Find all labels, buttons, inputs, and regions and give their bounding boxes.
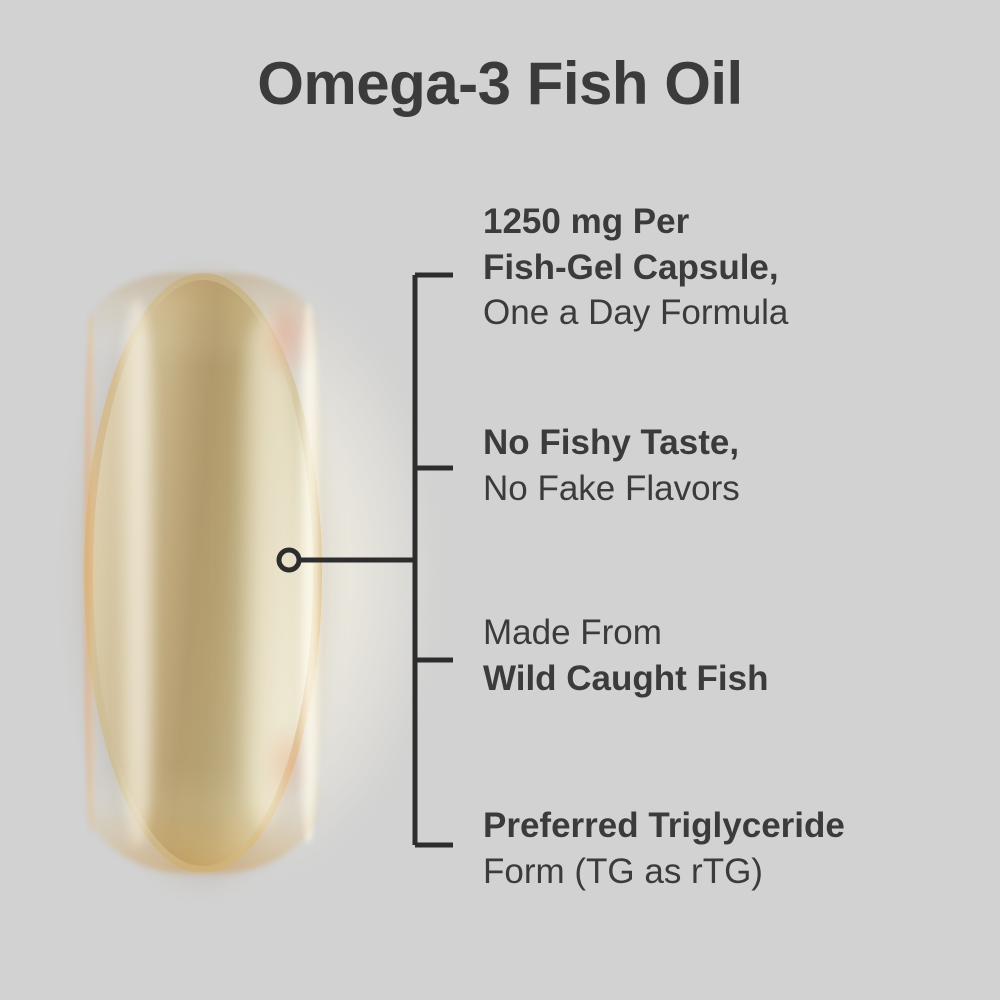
feature-line: Made From <box>483 610 769 656</box>
page-title: Omega-3 Fish Oil <box>0 52 1000 115</box>
feature-sourcing: Made From Wild Caught Fish <box>483 610 769 701</box>
fish-oil-softgel-capsule <box>84 273 322 873</box>
capsule-amber-blush-top <box>260 291 312 381</box>
feature-line: Wild Caught Fish <box>483 656 769 702</box>
feature-line: No Fake Flavors <box>483 466 740 512</box>
feature-line: Preferred Triglyceride <box>483 803 845 849</box>
capsule-edge-flare-left <box>85 313 98 833</box>
feature-line: One a Day Formula <box>483 290 788 336</box>
feature-taste: No Fishy Taste, No Fake Flavors <box>483 420 740 511</box>
capsule-amber-blush-bottom <box>264 723 308 803</box>
feature-line: No Fishy Taste, <box>483 420 740 466</box>
feature-line: Form (TG as rTG) <box>483 849 845 895</box>
feature-form: Preferred Triglyceride Form (TG as rTG) <box>483 803 845 894</box>
feature-line: Fish-Gel Capsule, <box>483 245 788 291</box>
feature-line: 1250 mg Per <box>483 199 788 245</box>
feature-dosage: 1250 mg Per Fish-Gel Capsule, One a Day … <box>483 199 788 336</box>
